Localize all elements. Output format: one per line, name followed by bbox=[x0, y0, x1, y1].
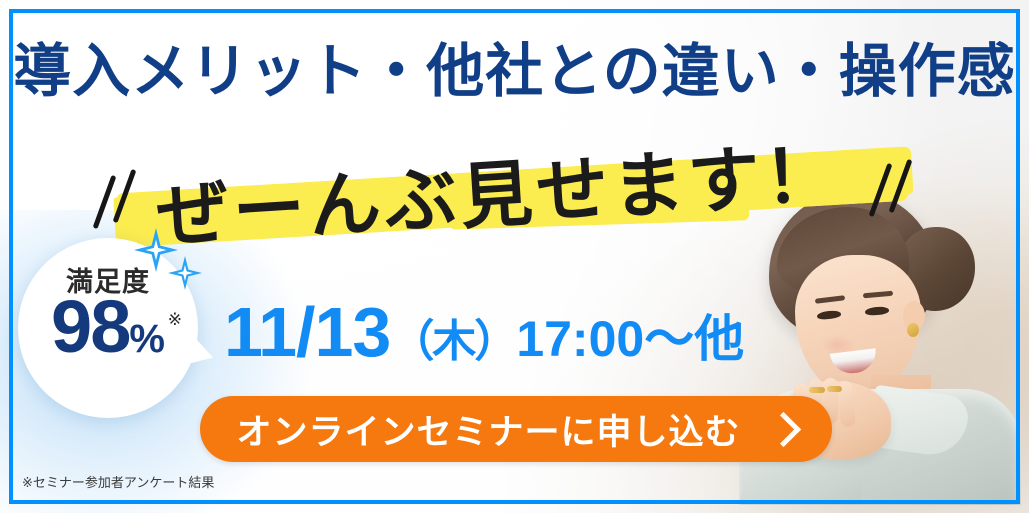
chevron-right-icon bbox=[765, 411, 800, 446]
apply-seminar-button[interactable]: オンラインセミナーに申し込む bbox=[200, 396, 832, 462]
seminar-promo-banner: 導入メリット・他社との違い・操作感 ぜーんぶ見せます！ 満足度 98% ※ 11… bbox=[0, 0, 1029, 513]
ring-shape bbox=[827, 386, 842, 392]
seminar-date: 11/13 bbox=[224, 293, 390, 371]
seminar-time: 17:00〜他 bbox=[516, 311, 744, 367]
badge-footnote-mark: ※ bbox=[168, 310, 182, 330]
ring-shape bbox=[809, 387, 825, 393]
satisfaction-badge: 満足度 98% ※ bbox=[18, 238, 198, 418]
seminar-day: （木） bbox=[390, 317, 516, 366]
page-title: 導入メリット・他社との違い・操作感 bbox=[0, 24, 1029, 108]
handwritten-tagline: ぜーんぶ見せます！ bbox=[153, 115, 842, 263]
badge-number: 98 bbox=[51, 285, 129, 368]
apply-seminar-button-label: オンラインセミナーに申し込む bbox=[236, 404, 740, 455]
schedule-line: 11/13（木）17:00〜他 bbox=[224, 292, 744, 372]
badge-percent-sign: % bbox=[129, 317, 165, 361]
handwritten-highlight-block: ぜーんぶ見せます！ bbox=[96, 132, 936, 250]
earring-shape bbox=[907, 323, 919, 337]
footnote-text: ※セミナー参加者アンケート結果 bbox=[22, 472, 214, 491]
